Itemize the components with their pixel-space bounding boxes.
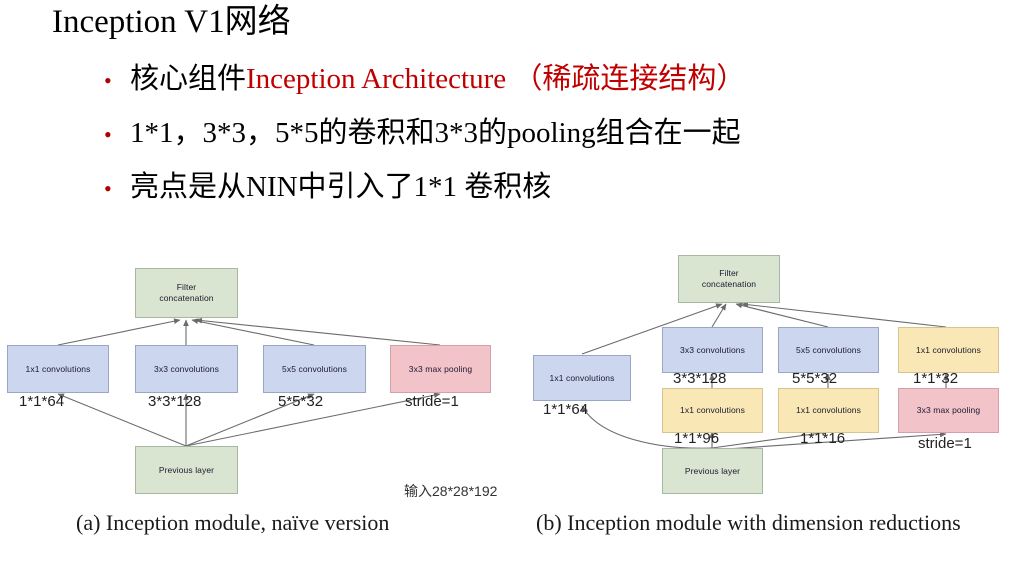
node-b-1x1-reduce-for-5x5: 1x1 convolutions (778, 388, 879, 433)
node-b-conv1x1-left-label: 1x1 convolutions (550, 373, 615, 384)
node-a-1x1-convolutions: 1x1 convolutions (7, 345, 109, 393)
bullet-1-prefix: 核心组件 (130, 62, 246, 96)
bullet-item-1: • 核心组件Inception Architecture （稀疏连接结构） (104, 62, 745, 98)
label-a-pool-stride: stride=1 (405, 394, 459, 410)
bullet-marker-icon: • (104, 64, 130, 98)
node-a-concat-label: Filter concatenation (159, 282, 213, 304)
node-a-5x5-convolutions: 5x5 convolutions (263, 345, 366, 393)
node-a-prev-label: Previous layer (159, 465, 214, 476)
label-b-pool-stride: stride=1 (918, 436, 972, 452)
node-a-conv3x3-label: 3x3 convolutions (154, 364, 219, 375)
bullet-marker-icon: • (104, 172, 130, 206)
bullet-item-3: • 亮点是从NIN中引入了1*1 卷积核 (104, 170, 551, 206)
label-a-5x5-dim: 5*5*32 (278, 394, 323, 410)
bullet-3-text: 亮点是从NIN中引入了1*1 卷积核 (130, 170, 551, 204)
node-b-maxpool-label: 3x3 max pooling (917, 405, 980, 416)
label-b-3x3-dim: 3*3*128 (673, 371, 726, 387)
label-b-1x1-left-dim: 1*1*64 (543, 402, 588, 418)
node-a-previous-layer: Previous layer (135, 446, 238, 494)
node-b-1x1-reduce-for-3x3: 1x1 convolutions (662, 388, 763, 433)
node-a-3x3-max-pooling: 3x3 max pooling (390, 345, 491, 393)
label-a-1x1-dim: 1*1*64 (19, 394, 64, 410)
node-b-concat-label: Filter concatenation (702, 268, 756, 290)
node-b-conv1x1-right-label: 1x1 convolutions (916, 345, 981, 356)
node-a-conv1x1-label: 1x1 convolutions (26, 364, 91, 375)
node-a-conv5x5-label: 5x5 convolutions (282, 364, 347, 375)
node-a-filter-concatenation: Filter concatenation (135, 268, 238, 318)
bullet-2-text: 1*1，3*3，5*5的卷积和3*3的pooling组合在一起 (130, 116, 741, 150)
label-b-5x5-dim: 5*5*32 (792, 371, 837, 387)
node-b-conv3x3-label: 3x3 convolutions (680, 345, 745, 356)
label-b-reduce3x3-dim: 1*1*96 (674, 431, 719, 447)
node-b-3x3-convolutions: 3x3 convolutions (662, 327, 763, 373)
node-b-prev-label: Previous layer (685, 466, 740, 477)
bullet-1-highlight: Inception Architecture （稀疏连接结构） (246, 62, 745, 96)
node-b-1x1-convolutions-right: 1x1 convolutions (898, 327, 999, 373)
node-b-1x1-convolutions-left: 1x1 convolutions (533, 355, 631, 401)
bullet-item-2: • 1*1，3*3，5*5的卷积和3*3的pooling组合在一起 (104, 116, 741, 152)
label-b-reduce5x5-dim: 1*1*16 (800, 431, 845, 447)
node-b-reduce5x5-label: 1x1 convolutions (796, 405, 861, 416)
page-title: Inception V1网络 (52, 2, 291, 42)
caption-panel-a: (a) Inception module, naïve version (76, 510, 389, 536)
node-b-reduce3x3-label: 1x1 convolutions (680, 405, 745, 416)
node-b-filter-concatenation: Filter concatenation (678, 255, 780, 303)
node-b-previous-layer: Previous layer (662, 448, 763, 494)
node-a-maxpool-label: 3x3 max pooling (409, 364, 472, 375)
node-b-conv5x5-label: 5x5 convolutions (796, 345, 861, 356)
label-a-3x3-dim: 3*3*128 (148, 394, 201, 410)
node-a-3x3-convolutions: 3x3 convolutions (135, 345, 238, 393)
node-b-3x3-max-pooling: 3x3 max pooling (898, 388, 999, 433)
caption-panel-b: (b) Inception module with dimension redu… (536, 510, 961, 536)
inception-figure: Filter concatenation 1x1 convolutions 3x… (0, 238, 1011, 564)
bullet-marker-icon: • (104, 118, 130, 152)
input-shape-note: 输入28*28*192 (404, 483, 497, 499)
label-b-1x1-right-dim: 1*1*32 (913, 371, 958, 387)
node-b-5x5-convolutions: 5x5 convolutions (778, 327, 879, 373)
